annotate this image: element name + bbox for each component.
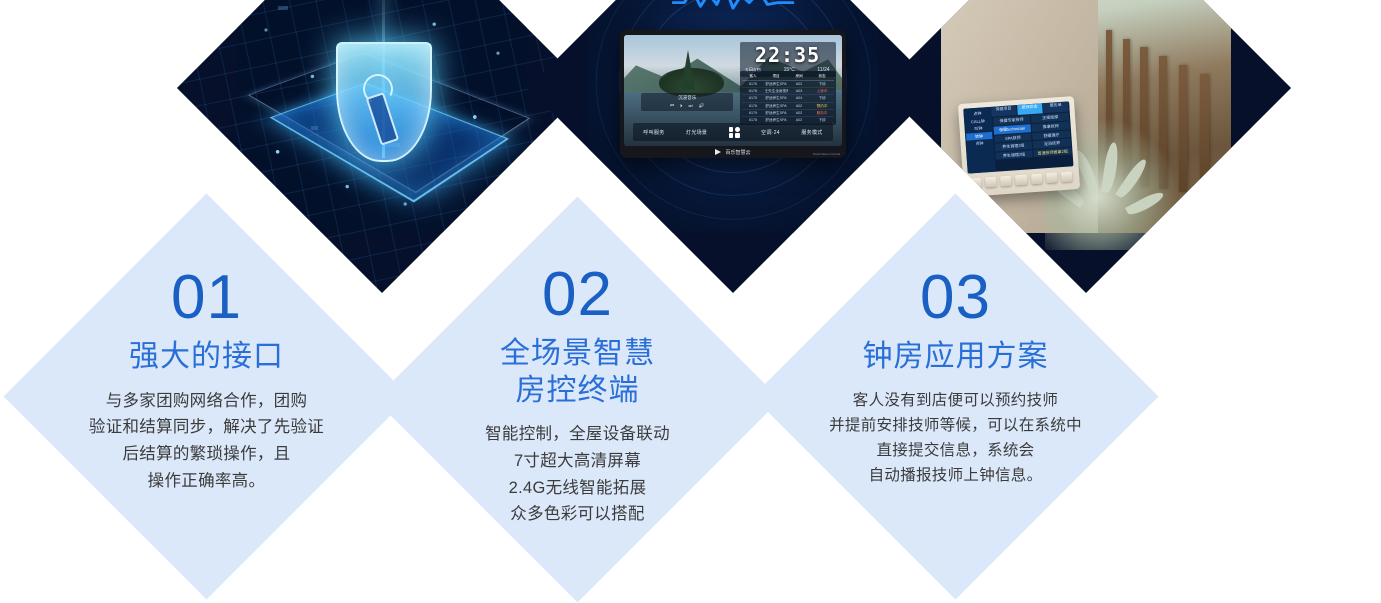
panel-list-right: 正规按摩 推拿技师 舒缓理疗 足浴技师 普通技师推拿2组 xyxy=(1031,112,1072,167)
panel-button-4[interactable] xyxy=(1016,174,1028,185)
plant-leaf xyxy=(1125,189,1165,217)
table-row: 6176 舒适养生SPA A02 预约中 xyxy=(742,103,834,110)
card-3-description: 客人没有到店便可以预约技师 并提前安排技师等候，可以在系统中 直接提交信息，系统… xyxy=(829,388,1082,488)
brand-name: 百乐智慧云 xyxy=(725,149,750,156)
service-table: 客人 项目 房间 状态 6176 舒适养生SPA A02 下钟 xyxy=(740,71,836,124)
cyber-shield-circuit-image xyxy=(237,0,527,233)
card-1-title: 强大的接口 xyxy=(129,339,284,376)
panel-button-5[interactable] xyxy=(1031,173,1043,184)
cell-status: 服务中 xyxy=(811,110,834,116)
cell-guest: 6176 xyxy=(742,81,765,87)
wood-slat xyxy=(1179,65,1187,193)
cell-guest: 6178 xyxy=(742,88,765,94)
cell-status: 预约中 xyxy=(811,103,834,109)
brand-logo-icon xyxy=(715,149,721,155)
cell-guest: 6175 xyxy=(742,95,765,101)
cell-room: A02 xyxy=(788,110,811,116)
panel-screen: 点钟 CALL钟 叫钟 转钟 点钟 保健项目 技师状态 服务单 xyxy=(964,101,1074,173)
tablet-screen: 22:35 5月6日 15°C 11/24 客人 项目 房间 xyxy=(624,35,842,146)
volume-icon[interactable]: 🔊 xyxy=(699,103,705,109)
col-guest: 客人 xyxy=(742,73,765,79)
cell-item: 王先生全身按摩 xyxy=(765,88,788,94)
waveform-icon xyxy=(672,0,794,10)
feature-diamond-banner: 22:35 5月6日 15°C 11/24 客人 项目 房间 xyxy=(0,0,1381,603)
card-3-number: 03 xyxy=(920,267,991,329)
table-row: 6176 舒适养生SPA A02 下钟 xyxy=(742,81,834,88)
card-1-number: 01 xyxy=(171,267,242,329)
wall-control-panel-device[interactable]: 点钟 CALL钟 叫钟 转钟 点钟 保健项目 技师状态 服务单 xyxy=(958,96,1080,197)
cell-room: A04 xyxy=(788,95,811,101)
service-table-header: 客人 项目 房间 状态 xyxy=(742,73,834,80)
side-item-4[interactable]: 点钟 xyxy=(967,139,993,148)
card-2-description: 智能控制，全屋设备联动 7寸超大高清屏幕 2.4G无线智能拓展 众多色彩可以搭配 xyxy=(485,421,670,528)
dock-call-service[interactable]: 呼叫服务 xyxy=(643,129,664,136)
tablet-dock-bar[interactable]: 呼叫服务 灯光场景 空调·24 服务模式 xyxy=(633,123,834,141)
cell-guest: 6179 xyxy=(742,110,765,116)
panel-button-6[interactable] xyxy=(1046,172,1058,183)
cell-item: 舒适养生SPA xyxy=(765,95,788,101)
cell-room: A02 xyxy=(788,81,811,87)
cell-item: 舒适养生SPA xyxy=(765,81,788,87)
cell-status: 上钟中 xyxy=(811,88,834,94)
cell-item: 舒适养生SPA xyxy=(765,110,788,116)
table-row: 6178 王先生全身按摩 A03 上钟中 xyxy=(742,88,834,95)
dock-service-mode[interactable]: 服务模式 xyxy=(801,129,822,136)
device-chin: 百乐智慧云 Smart Room Control xyxy=(620,147,846,158)
cell-room: A02 xyxy=(788,103,811,109)
cell-room: A03 xyxy=(788,88,811,94)
wall-control-panel-image: 点钟 CALL钟 叫钟 转钟 点钟 保健项目 技师状态 服务单 xyxy=(941,0,1231,233)
panel-button-2[interactable] xyxy=(985,176,997,187)
table-row: 6179 舒适养生SPA A02 服务中 xyxy=(742,110,834,117)
panel-button-3[interactable] xyxy=(1001,175,1013,186)
player-title: 沉浸音乐 xyxy=(643,95,731,101)
light-particles xyxy=(237,0,527,233)
music-player-widget: 沉浸音乐 ⏮ ⏵ ⏭ 🔊 xyxy=(641,92,733,110)
table-row: 6175 舒适养生SPA A04 下钟 xyxy=(742,95,834,102)
dock-air-conditioner[interactable]: 空调·24 xyxy=(761,129,780,136)
plant-leaf xyxy=(1101,141,1120,193)
cell-status: 下钟 xyxy=(811,95,834,101)
play-icon[interactable]: ⏵ xyxy=(680,103,682,109)
panel-button-7[interactable] xyxy=(1061,171,1073,182)
cell-status: 下钟 xyxy=(811,81,834,87)
plant-leaf xyxy=(1115,157,1149,201)
card-2-title: 全场景智慧 房控终端 xyxy=(500,336,655,409)
smart-panel-device: 22:35 5月6日 15°C 11/24 客人 项目 房间 xyxy=(620,30,846,158)
player-controls[interactable]: ⏮ ⏵ ⏭ 🔊 xyxy=(643,103,731,109)
panel-list-left: 保健专家技师 保健technician SPA技师 养生调理2组 养生调理2组 xyxy=(993,115,1034,170)
wood-slat xyxy=(1200,74,1209,196)
smart-room-tablet-image: 22:35 5月6日 15°C 11/24 客人 项目 房间 xyxy=(588,0,878,233)
dock-light-scene[interactable]: 灯光场景 xyxy=(686,129,707,136)
panel-button-1[interactable] xyxy=(970,177,982,188)
col-item: 项目 xyxy=(765,73,788,79)
card-2-number: 02 xyxy=(542,264,613,326)
brand-subtitle: Smart Room Control xyxy=(813,153,840,157)
clock-time: 22:35 xyxy=(744,45,832,65)
next-icon[interactable]: ⏭ xyxy=(688,103,692,109)
col-status: 状态 xyxy=(811,73,834,79)
cell-guest: 6176 xyxy=(742,103,765,109)
panel-content: 保健项目 技师状态 服务单 保健专家技师 保健technician SPA技师 … xyxy=(991,101,1074,171)
apps-grid-icon[interactable] xyxy=(729,127,740,138)
col-room: 房间 xyxy=(788,73,811,79)
card-3-title: 钟房应用方案 xyxy=(863,339,1049,376)
wallpaper-tree xyxy=(681,50,695,90)
prev-icon[interactable]: ⏮ xyxy=(670,103,674,109)
panel-lists: 保健专家技师 保健technician SPA技师 养生调理2组 养生调理2组 … xyxy=(992,111,1074,171)
cell-item: 舒适养生SPA xyxy=(765,103,788,109)
card-1-description: 与多家团购网络合作，团购 验证和结算同步，解决了先验证 后结算的繁琐操作，且 操… xyxy=(89,388,324,495)
